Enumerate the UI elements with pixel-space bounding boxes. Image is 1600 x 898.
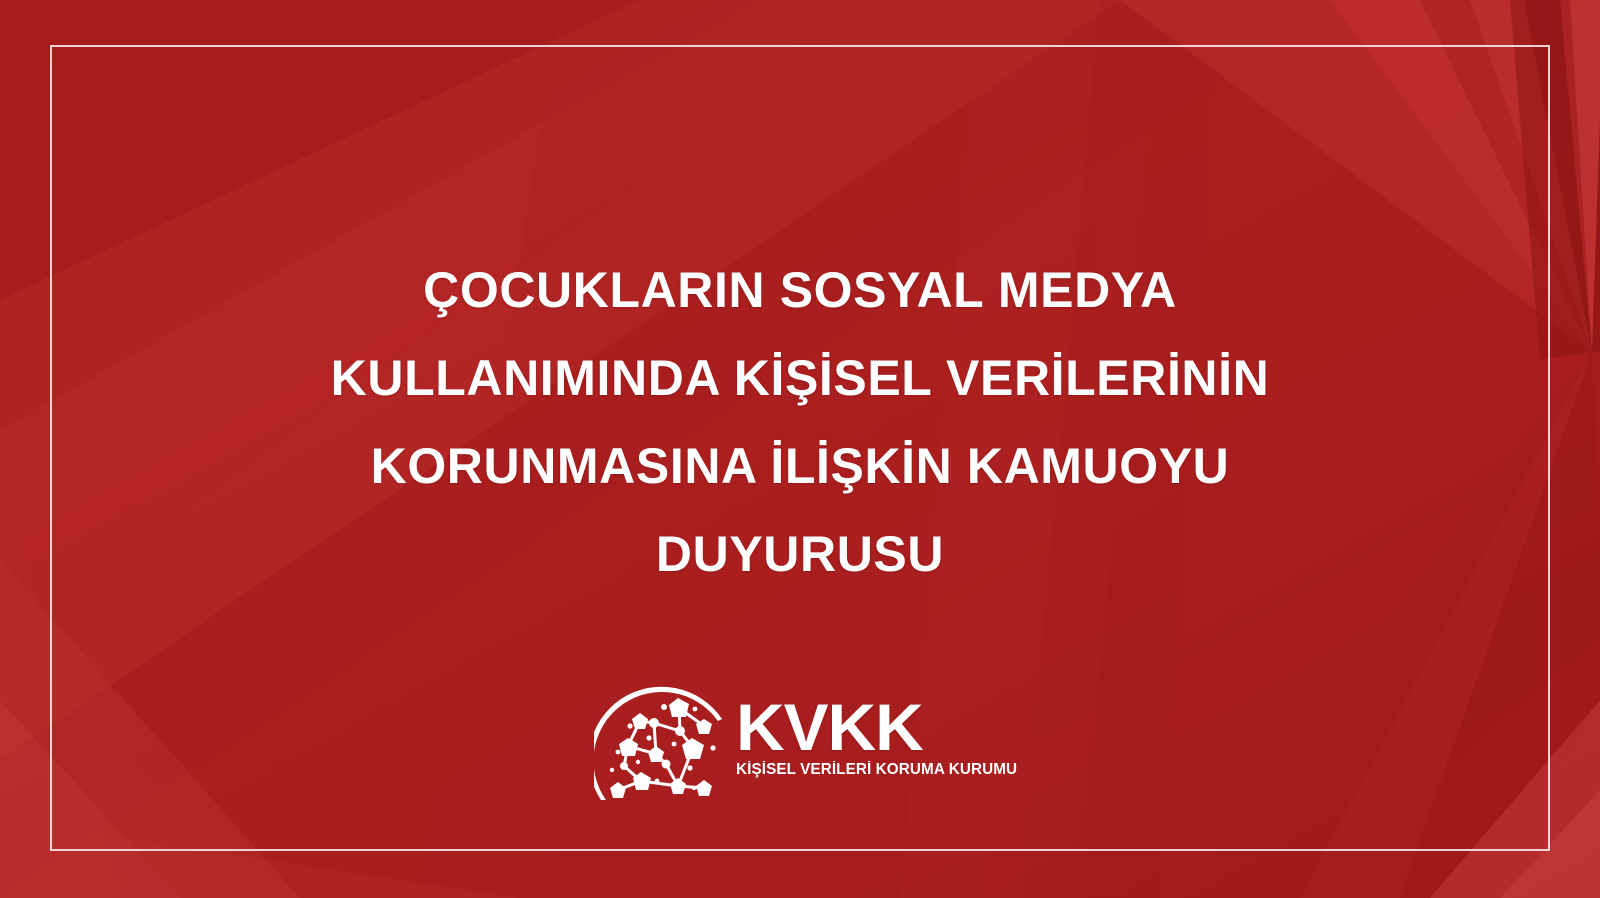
- kvkk-network-arc-icon: [594, 676, 724, 800]
- announcement-poster: ÇOCUKLARIN SOSYAL MEDYA KULLANIMINDA KİŞ…: [0, 0, 1600, 898]
- kvkk-logo: KVKK KİŞİSEL VERİLERİ KORUMA KURUMU: [594, 676, 994, 800]
- headline-line-4: DUYURUSU: [0, 510, 1600, 598]
- kvkk-subtitle-text: KİŞİSEL VERİLERİ KORUMA KURUMU: [736, 761, 1017, 779]
- kvkk-wordmark: KVKK KİŞİSEL VERİLERİ KORUMA KURUMU: [736, 698, 1021, 779]
- kvkk-wordmark-text: KVKK: [736, 698, 1027, 756]
- headline-line-1: ÇOCUKLARIN SOSYAL MEDYA: [0, 246, 1600, 334]
- page-title: ÇOCUKLARIN SOSYAL MEDYA KULLANIMINDA KİŞ…: [0, 246, 1600, 598]
- headline-line-2: KULLANIMINDA KİŞİSEL VERİLERİNİN: [0, 334, 1600, 422]
- headline-line-3: KORUNMASINA İLİŞKİN KAMUOYU: [0, 422, 1600, 510]
